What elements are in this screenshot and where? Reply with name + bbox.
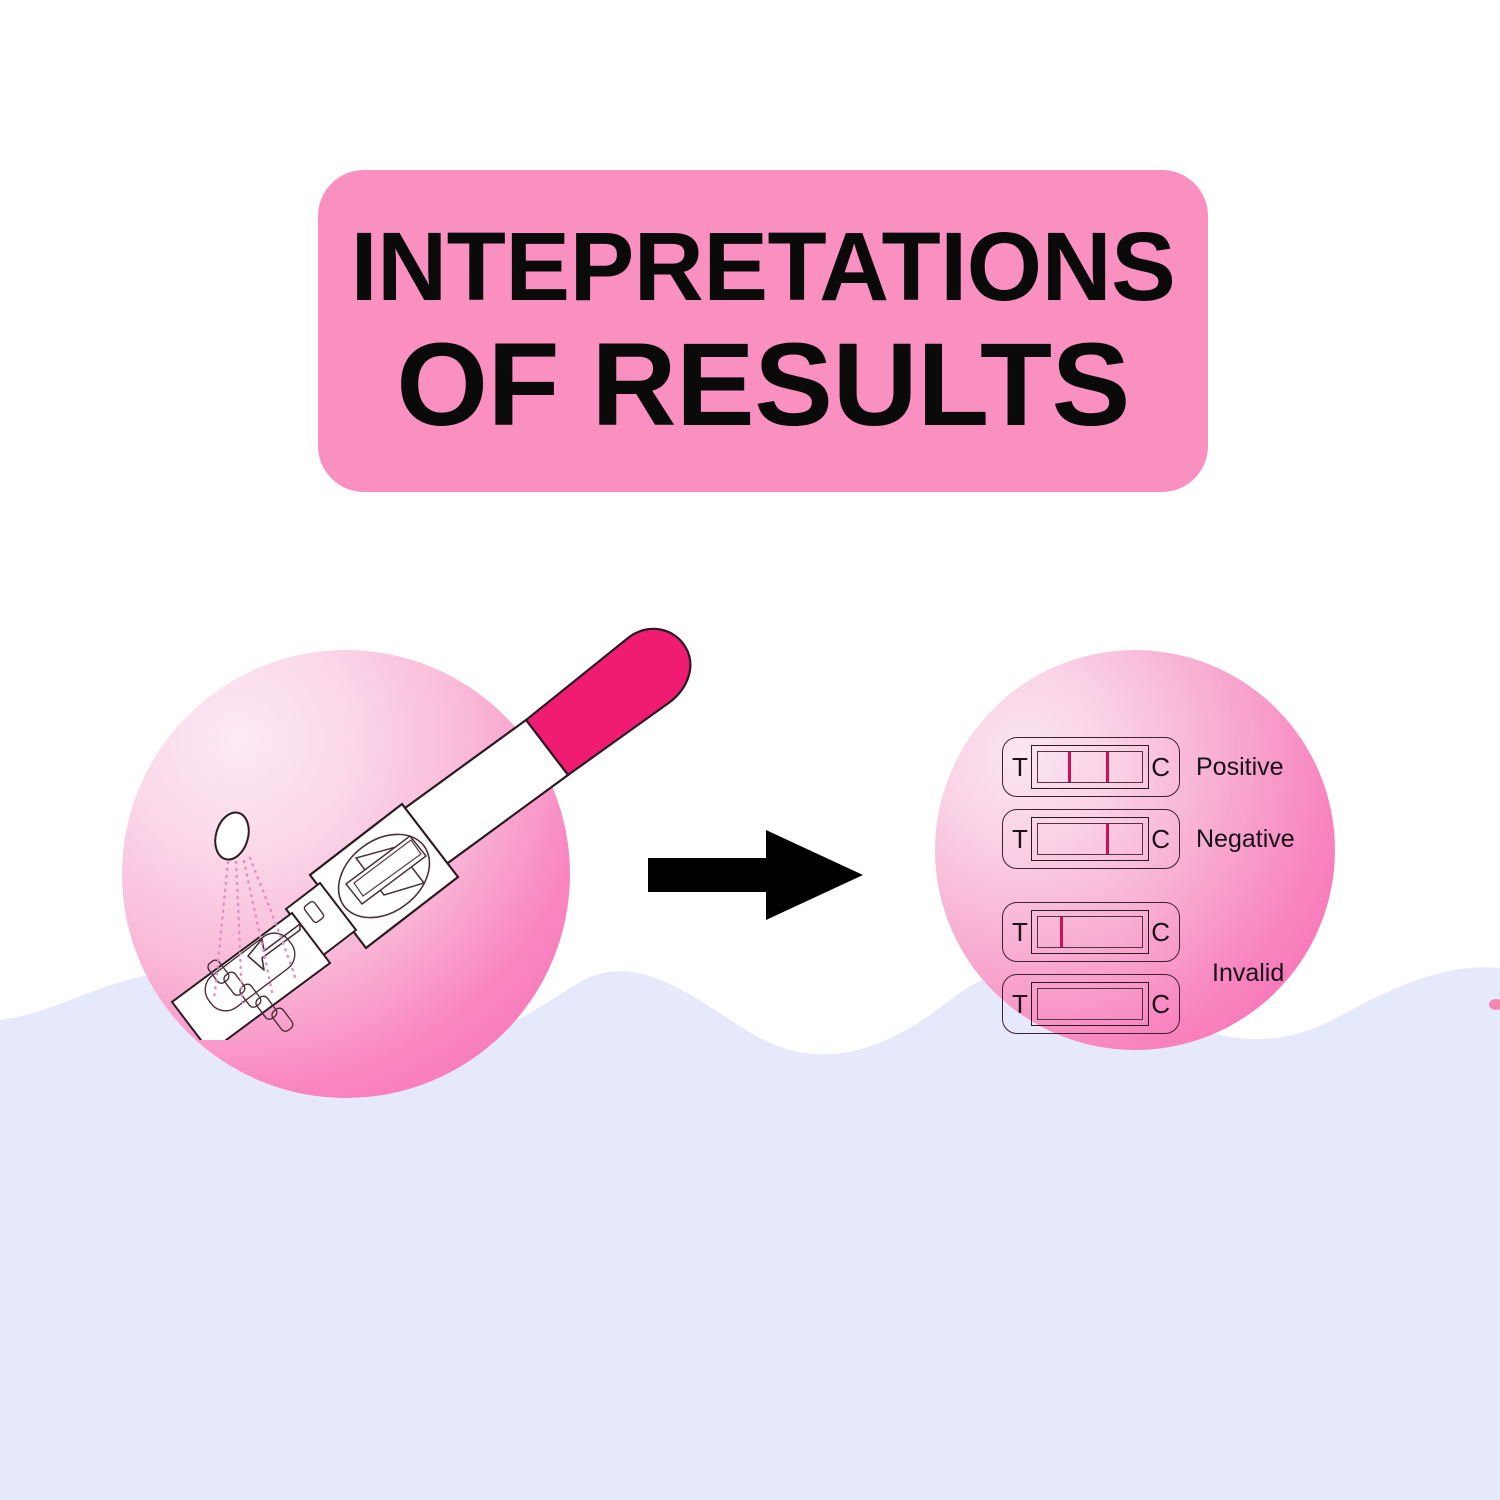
test-band bbox=[1060, 917, 1063, 947]
test-strip-invalid-no-band: T C bbox=[1002, 974, 1180, 1034]
strip-letter-c: C bbox=[1151, 991, 1170, 1017]
strip-window-inner bbox=[1037, 823, 1143, 855]
flow-arrow bbox=[648, 830, 863, 920]
results-key: T C Positive T C bbox=[1002, 736, 1312, 1026]
flow-arrow-icon bbox=[648, 830, 863, 920]
strip-window-inner bbox=[1037, 988, 1143, 1020]
test-strip-invalid-test-only: T C bbox=[1002, 902, 1180, 962]
result-row-invalid-test-only: T C Invalid bbox=[1002, 901, 1180, 963]
pregnancy-test-stick bbox=[170, 600, 770, 1040]
strip-letter-c: C bbox=[1151, 754, 1170, 780]
absorbent-tip-icon bbox=[172, 913, 330, 1040]
title-banner: INTEPRETATIONS OF RESULTS bbox=[318, 170, 1208, 492]
result-row-negative: T C Negative bbox=[1002, 808, 1295, 870]
strip-window-inner bbox=[1037, 751, 1143, 783]
strip-letter-c: C bbox=[1151, 826, 1170, 852]
infographic-canvas: INTEPRETATIONS OF RESULTS bbox=[0, 0, 1500, 1500]
strip-letter-c: C bbox=[1151, 919, 1170, 945]
strip-letter-t: T bbox=[1012, 919, 1028, 945]
result-label-negative: Negative bbox=[1196, 825, 1295, 854]
strip-window-inner bbox=[1037, 916, 1143, 948]
test-strip-negative: T C bbox=[1002, 809, 1180, 869]
test-strip-positive: T C bbox=[1002, 737, 1180, 797]
strip-letter-t: T bbox=[1012, 826, 1028, 852]
urine-droplet-icon bbox=[210, 809, 254, 864]
strip-window-outer bbox=[1031, 910, 1149, 954]
strip-window-outer bbox=[1031, 817, 1149, 861]
test-band bbox=[1068, 752, 1071, 782]
result-row-positive: T C Positive bbox=[1002, 736, 1284, 798]
result-label-invalid: Invalid bbox=[1212, 959, 1284, 988]
control-band bbox=[1106, 752, 1109, 782]
strip-window-outer bbox=[1031, 982, 1149, 1026]
strip-window-outer bbox=[1031, 745, 1149, 789]
result-row-invalid-no-band: T C bbox=[1002, 973, 1180, 1035]
control-band bbox=[1106, 824, 1109, 854]
result-label-positive: Positive bbox=[1196, 753, 1284, 782]
accent-dot bbox=[1489, 999, 1500, 1010]
page-title-line-1: INTEPRETATIONS bbox=[351, 219, 1176, 314]
strip-letter-t: T bbox=[1012, 754, 1028, 780]
page-title-line-2: OF RESULTS bbox=[396, 328, 1130, 444]
strip-letter-t: T bbox=[1012, 991, 1028, 1017]
